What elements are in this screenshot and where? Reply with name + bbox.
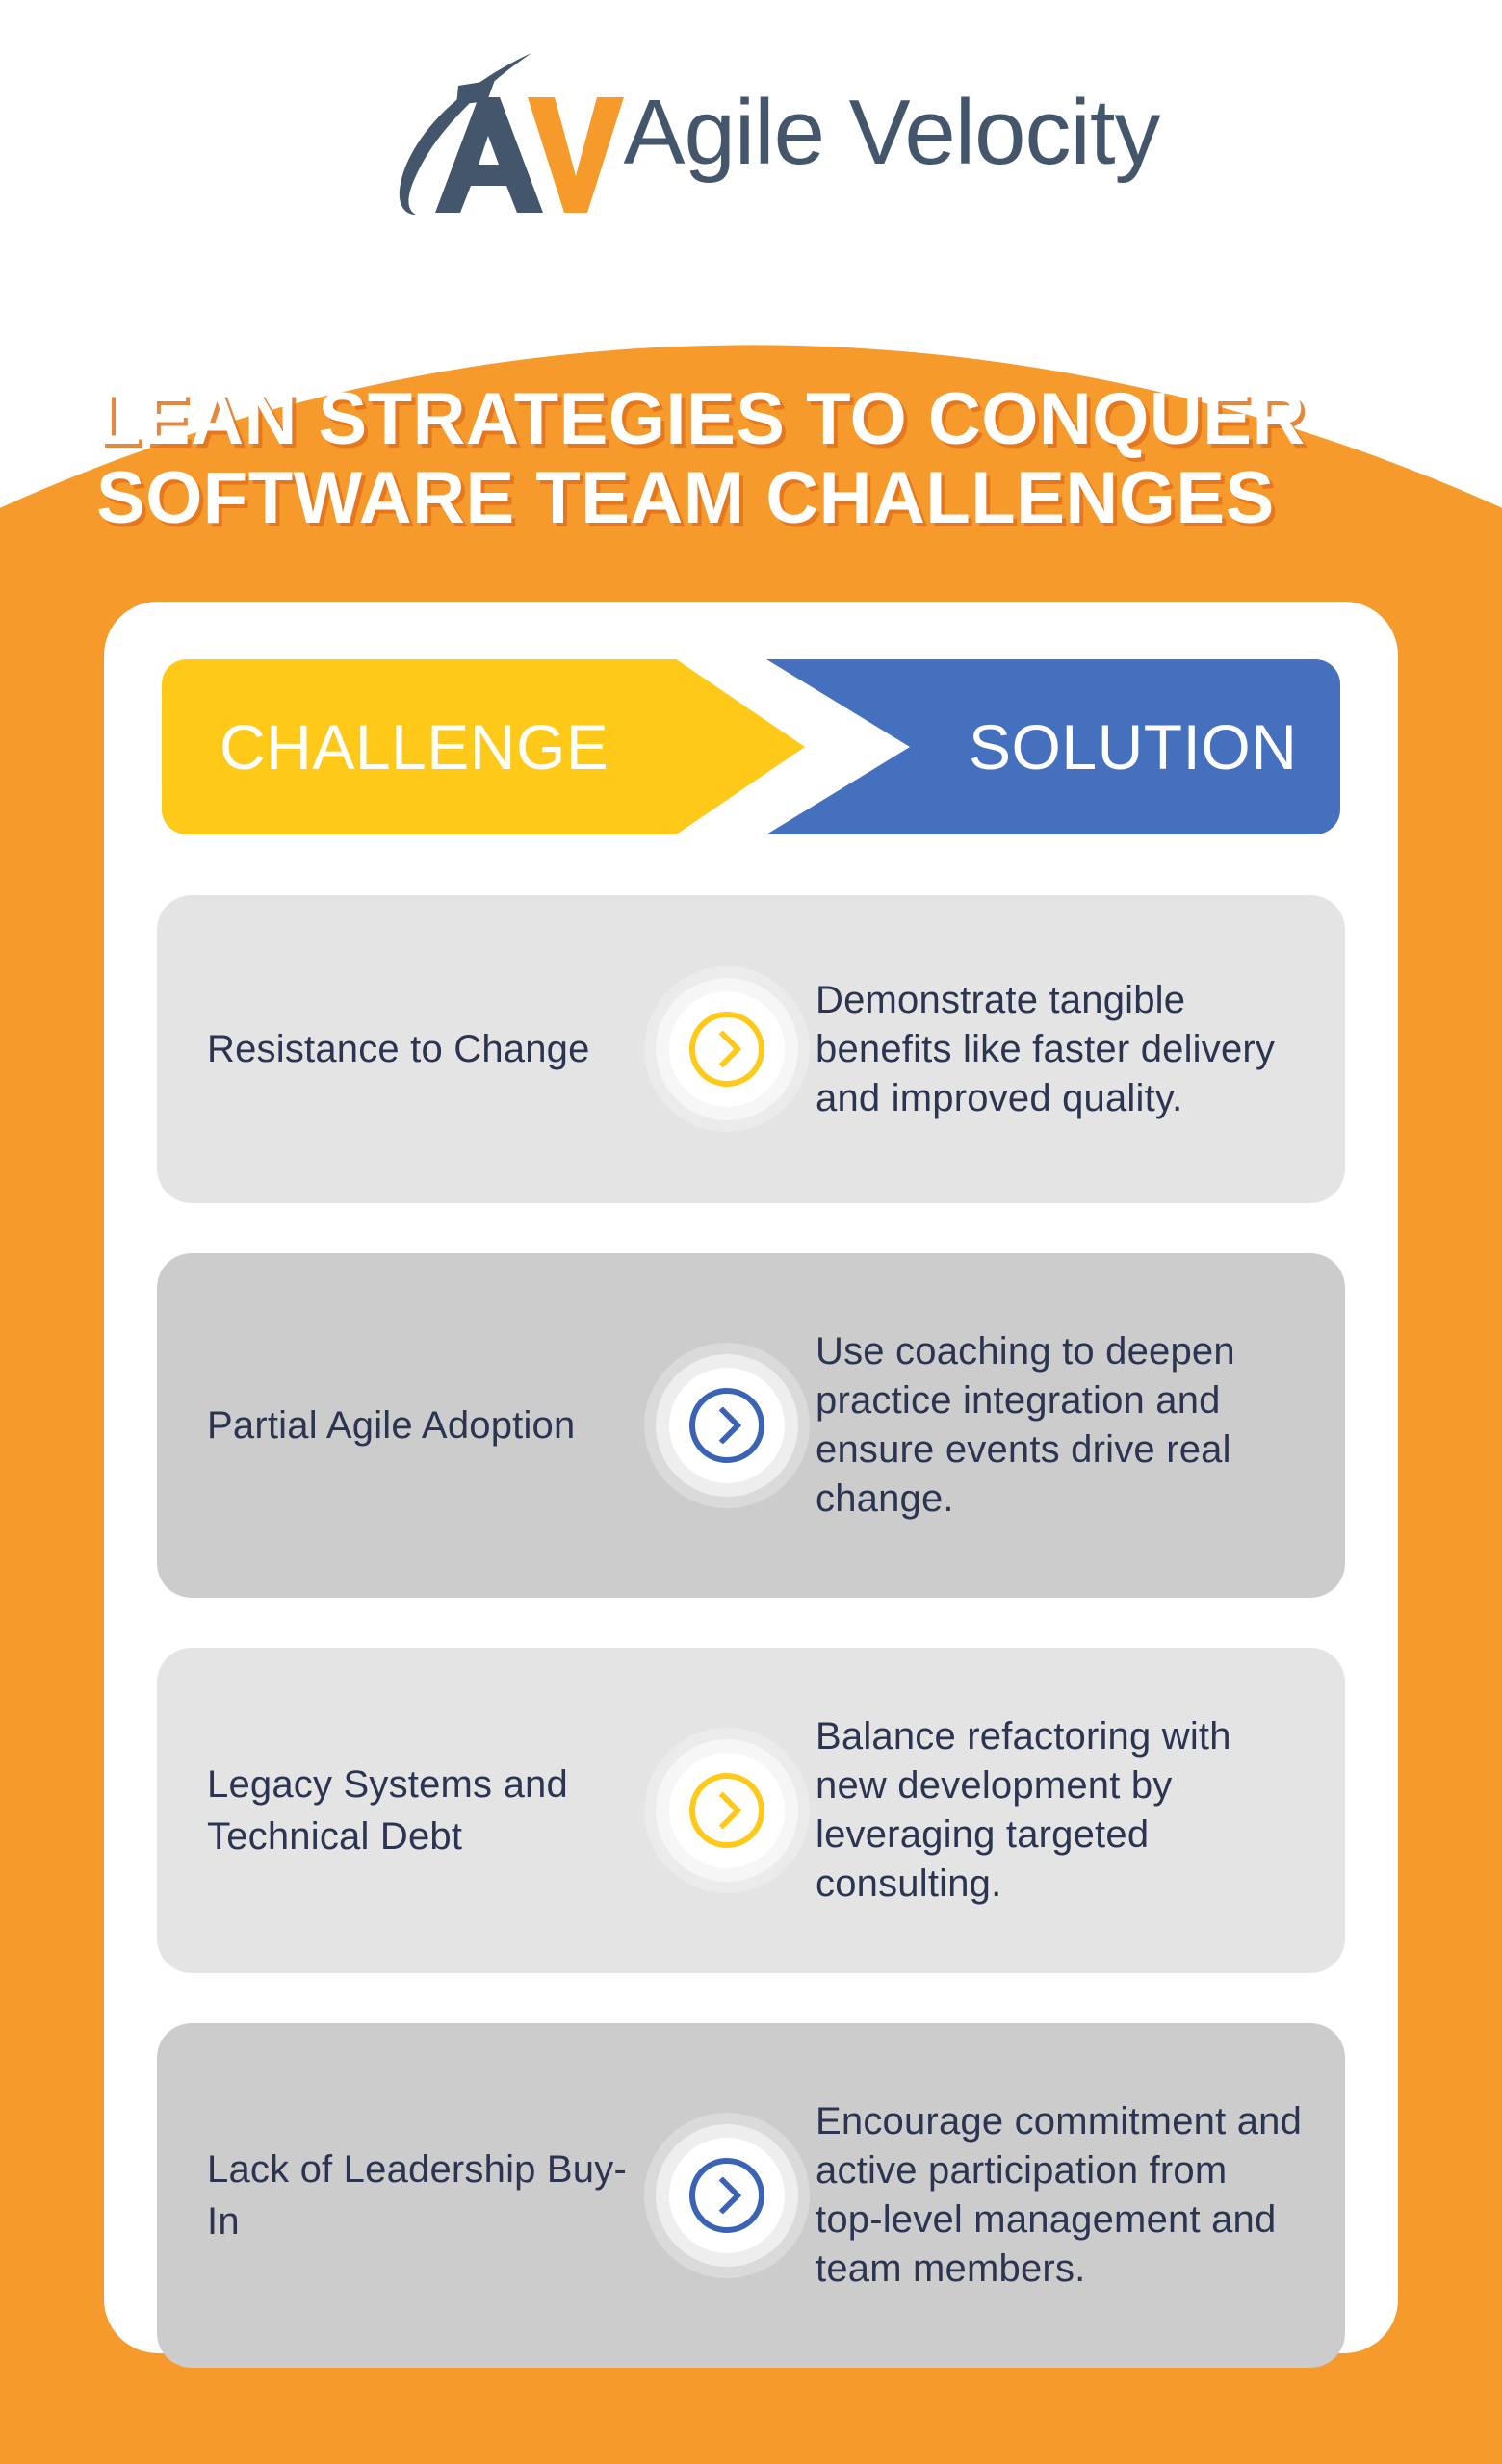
arrow-badge xyxy=(669,991,785,1107)
arrow-badge xyxy=(669,2138,785,2253)
page-title-line-1: LEAN STRATEGIES TO CONQUER xyxy=(96,380,1425,459)
arrow-connector xyxy=(650,2138,804,2253)
challenge-text: Partial Agile Adoption xyxy=(207,1399,650,1451)
list-item: Resistance to Change Demonstrate tangibl… xyxy=(157,895,1345,1203)
chevron-right-icon xyxy=(689,1388,764,1463)
challenge-text: Legacy Systems and Technical Debt xyxy=(207,1758,650,1862)
list-item: Legacy Systems and Technical Debt Balanc… xyxy=(157,1648,1345,1973)
content-card: CHALLENGE SOLUTION Resistance to Change … xyxy=(104,602,1398,2353)
chevron-right-icon xyxy=(689,1012,764,1087)
chevron-right-icon xyxy=(689,2158,764,2233)
challenge-text: Lack of Leadership Buy-In xyxy=(207,2143,650,2247)
chevron-right-icon xyxy=(689,1773,764,1848)
challenge-solution-list: Resistance to Change Demonstrate tangibl… xyxy=(157,895,1345,2418)
challenge-column-label: CHALLENGE xyxy=(220,710,609,783)
list-item: Partial Agile Adoption Use coaching to d… xyxy=(157,1253,1345,1598)
arrow-badge xyxy=(669,1753,785,1868)
av-logo-mark-icon xyxy=(343,41,632,224)
challenge-column-header: CHALLENGE xyxy=(162,659,805,834)
arrow-connector xyxy=(650,1753,804,1868)
brand-wordmark: Agile Velocity xyxy=(624,80,1160,186)
solution-column-label: SOLUTION xyxy=(969,710,1297,783)
solution-text: Use coaching to deepen practice integrat… xyxy=(804,1327,1303,1524)
challenge-text: Resistance to Change xyxy=(207,1023,650,1075)
arrow-connector xyxy=(650,991,804,1107)
list-item: Lack of Leadership Buy-In Encourage comm… xyxy=(157,2023,1345,2368)
solution-text: Encourage commitment and active particip… xyxy=(804,2097,1303,2294)
solution-text: Demonstrate tangible benefits like faste… xyxy=(804,976,1303,1123)
solution-column-header: SOLUTION xyxy=(766,659,1340,834)
page-title: LEAN STRATEGIES TO CONQUER SOFTWARE TEAM… xyxy=(96,380,1425,538)
arrow-badge xyxy=(669,1368,785,1483)
solution-text: Balance refactoring with new development… xyxy=(804,1712,1303,1909)
column-header-banner: CHALLENGE SOLUTION xyxy=(162,659,1340,834)
brand-logo: Agile Velocity xyxy=(343,41,1160,224)
header: Agile Velocity xyxy=(0,0,1502,289)
page-title-line-2: SOFTWARE TEAM CHALLENGES xyxy=(96,459,1425,538)
arrow-connector xyxy=(650,1368,804,1483)
